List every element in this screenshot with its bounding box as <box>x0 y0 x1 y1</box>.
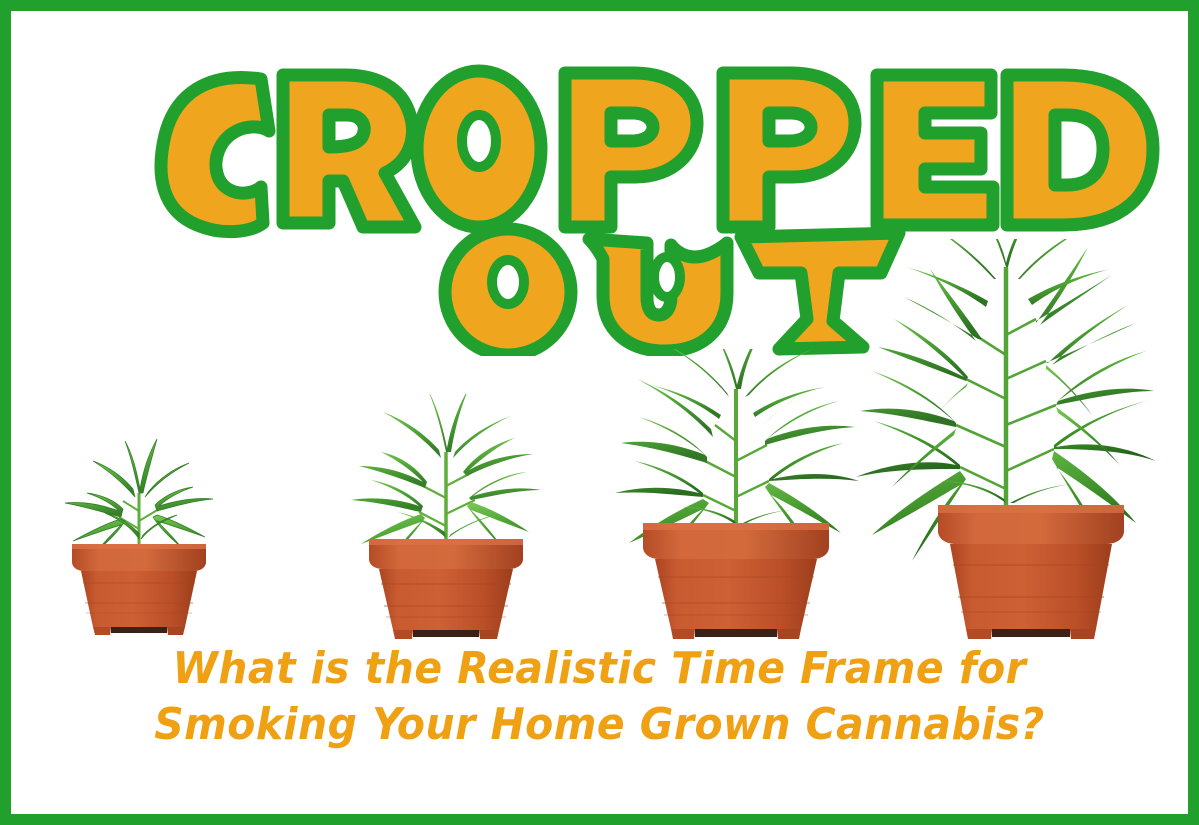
terracotta-pot <box>643 523 829 639</box>
terracotta-pot <box>938 505 1124 639</box>
terracotta-pot <box>72 544 206 635</box>
plant-stage-4 <box>856 239 1156 639</box>
plants-row <box>11 11 1188 651</box>
caption-line-1: What is the Realistic Time Frame for <box>52 647 1147 691</box>
caption-line-2: Smoking Your Home Grown Cannabis? <box>52 703 1147 747</box>
caption: What is the Realistic Time Frame for Smo… <box>11 647 1188 747</box>
plant-stage-1 <box>39 421 239 636</box>
cannabis-foliage <box>351 394 541 560</box>
terracotta-pot <box>369 539 523 639</box>
poster: .gf{ fill:#F0A51E; stroke:#21A02E; strok… <box>0 0 1199 825</box>
cannabis-foliage <box>65 439 213 551</box>
plant-stage-2 <box>341 394 551 639</box>
poster-canvas: .gf{ fill:#F0A51E; stroke:#21A02E; strok… <box>11 11 1188 814</box>
plant-stage-3 <box>611 349 861 639</box>
